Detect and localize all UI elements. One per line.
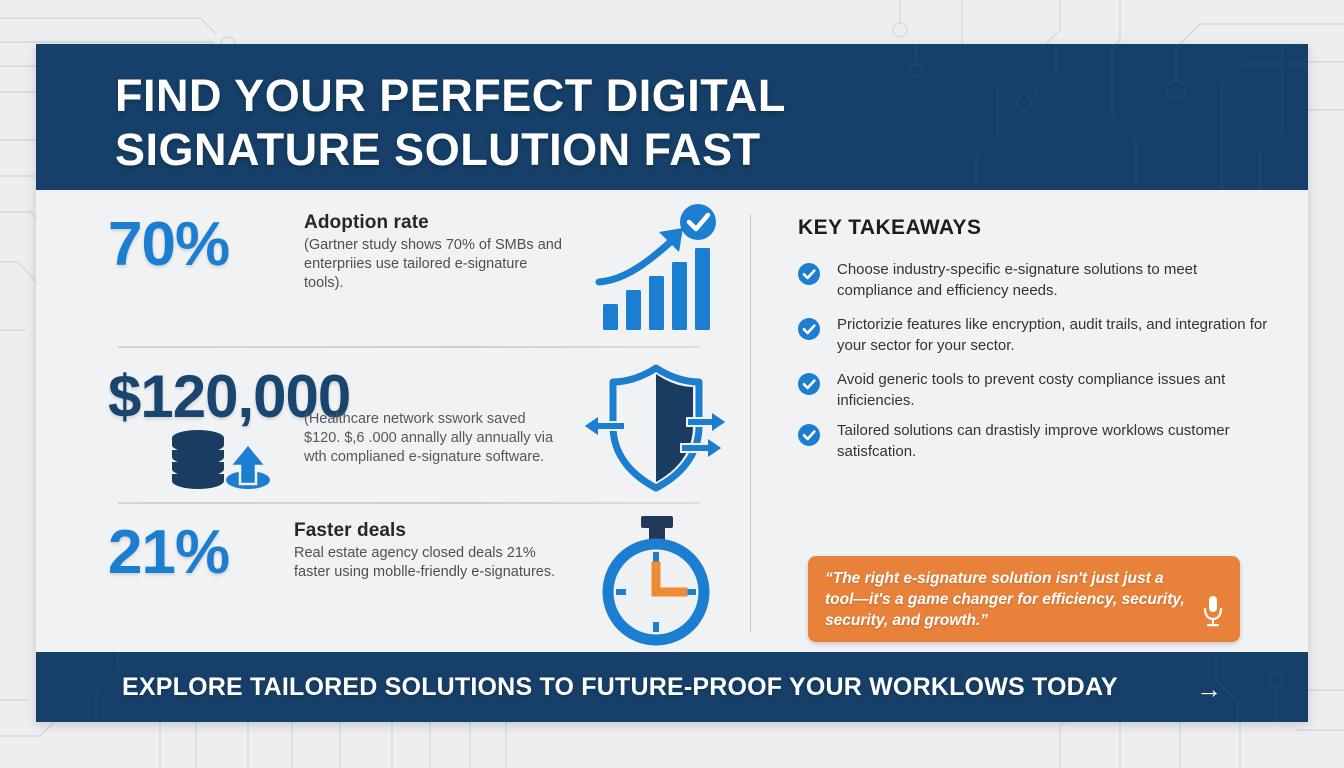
stat-text-block: Faster deals Real estate agency closed d… xyxy=(294,520,570,582)
growth-chart-icon xyxy=(581,200,731,350)
stat-row: 21% Faster deals Real estate agency clos… xyxy=(36,508,750,658)
microphone-icon xyxy=(1201,594,1225,628)
list-item: Prictorizie features like encryption, au… xyxy=(798,315,1276,356)
check-circle-icon xyxy=(798,318,820,340)
takeaway-text: Prictorizie features like encryption, au… xyxy=(837,315,1276,356)
header-banner: FIND YOUR PERFECT DIGITAL SIGNATURE SOLU… xyxy=(36,44,1308,190)
content-area: 70% Adoption rate (Gartner study shows 7… xyxy=(36,190,1308,652)
check-circle-icon xyxy=(798,424,820,446)
stat-description-speed: Real estate agency closed deals 21% fast… xyxy=(294,544,570,582)
stat-text-block: Adoption rate (Gartner study shows 70% o… xyxy=(304,212,562,293)
arrow-right-icon[interactable]: → xyxy=(1196,674,1222,705)
check-circle-icon xyxy=(798,373,820,395)
key-takeaways-column: KEY TAKEAWAYS Choose industry-specific e… xyxy=(750,190,1308,652)
stat-title-speed: Faster deals xyxy=(294,520,570,542)
check-circle-icon xyxy=(798,263,820,285)
stat-row: $120,000 (Healthcare network sswork save… xyxy=(36,352,750,502)
quote-text: “The right e-signature solution isn't ju… xyxy=(825,568,1185,631)
stat-description-adoption: (Gartner study shows 70% of SMBs and ent… xyxy=(304,236,562,293)
header-title-line2: SIGNATURE SOLUTION FAST xyxy=(115,123,1115,177)
takeaway-text: Avoid generic tools to prevent costy com… xyxy=(837,370,1276,411)
footer-cta-text: EXPLORE TAILORED SOLUTIONS TO FUTURE-PRO… xyxy=(122,673,1118,702)
stat-value-speed: 21% xyxy=(36,518,304,588)
stat-title-adoption: Adoption rate xyxy=(304,212,562,234)
page-title: FIND YOUR PERFECT DIGITAL SIGNATURE SOLU… xyxy=(115,69,1115,177)
statistics-column: 70% Adoption rate (Gartner study shows 7… xyxy=(36,190,750,652)
stat-description-savings: (Healthcare network sswork saved $120. $… xyxy=(304,410,562,467)
header-title-line1: FIND YOUR PERFECT DIGITAL xyxy=(115,70,786,121)
takeaway-text: Choose industry-specific e-signature sol… xyxy=(837,260,1276,301)
list-item: Avoid generic tools to prevent costy com… xyxy=(798,370,1276,411)
stat-row: 70% Adoption rate (Gartner study shows 7… xyxy=(36,200,750,350)
stat-text-block: (Healthcare network sswork saved $120. $… xyxy=(304,410,562,467)
stat-divider-2 xyxy=(118,502,700,504)
quote-callout: “The right e-signature solution isn't ju… xyxy=(808,556,1240,642)
database-upload-icon xyxy=(164,428,274,494)
takeaway-text: Tailored solutions can drastisly improve… xyxy=(837,421,1276,462)
footer-cta-bar[interactable]: EXPLORE TAILORED SOLUTIONS TO FUTURE-PRO… xyxy=(36,652,1308,722)
takeaways-list: Choose industry-specific e-signature sol… xyxy=(798,260,1276,476)
stat-value-adoption: 70% xyxy=(36,210,304,280)
shield-exchange-icon xyxy=(581,352,731,502)
list-item: Choose industry-specific e-signature sol… xyxy=(798,260,1276,301)
stopwatch-icon xyxy=(581,508,731,658)
takeaways-heading: KEY TAKEAWAYS xyxy=(798,216,981,240)
infographic-card: FIND YOUR PERFECT DIGITAL SIGNATURE SOLU… xyxy=(36,44,1308,722)
list-item: Tailored solutions can drastisly improve… xyxy=(798,421,1276,462)
stat-value-savings: $120,000 xyxy=(36,362,304,432)
